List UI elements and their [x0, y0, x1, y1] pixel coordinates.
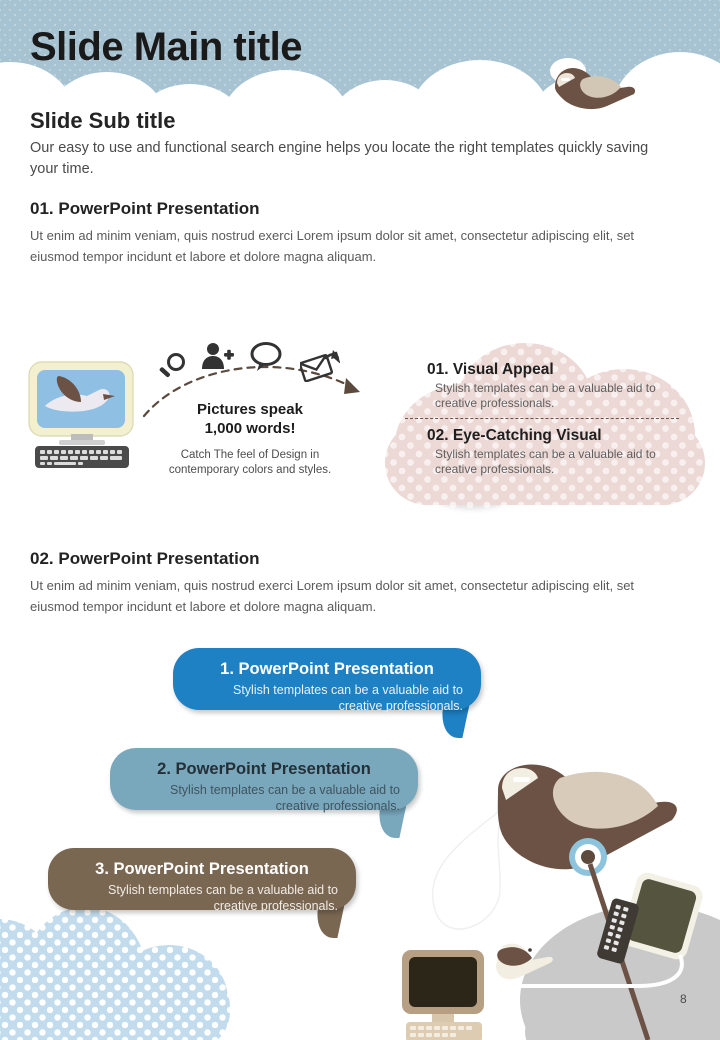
slide-sub-title: Slide Sub title	[30, 108, 175, 134]
cloud-item-2-title: 02. Eye-Catching Visual	[427, 427, 689, 445]
cloud-item-2-desc: Stylish templates can be a valuable aid …	[435, 447, 689, 477]
cloud-divider	[405, 418, 679, 419]
speech-bubble-icon	[250, 342, 282, 372]
bubble-3-title: 3. PowerPoint Presentation	[66, 860, 338, 879]
bottom-dot-cloud	[0, 905, 260, 1040]
section-1-title: 01. PowerPoint Presentation	[30, 199, 260, 219]
pictures-speak-headline: Pictures speak 1,000 words!	[165, 400, 335, 438]
bottom-illustration	[380, 750, 720, 1040]
bubble-2-title: 2. PowerPoint Presentation	[128, 760, 400, 779]
section-2-description: Ut enim ad minim veniam, quis nostrud ex…	[30, 575, 680, 617]
section-1-description: Ut enim ad minim veniam, quis nostrud ex…	[30, 225, 680, 267]
slide-canvas: Slide Main title Slide Sub title Our eas…	[0, 0, 720, 1040]
bubble-3[interactable]: 3. PowerPoint Presentation Stylish templ…	[48, 848, 356, 910]
bubble-1-title: 1. PowerPoint Presentation	[191, 660, 463, 679]
envelope-reply-icon	[300, 348, 340, 382]
slide-main-title: Slide Main title	[30, 25, 302, 70]
header-bird-icon	[541, 57, 646, 117]
bubble-2[interactable]: 2. PowerPoint Presentation Stylish templ…	[110, 748, 418, 810]
infographic-group: Pictures speak 1,000 words! Catch The fe…	[0, 320, 720, 520]
pink-cloud-content: 01. Visual Appeal Stylish templates can …	[427, 361, 689, 477]
section-2-title: 02. PowerPoint Presentation	[30, 549, 260, 569]
bubble-1-desc: Stylish templates can be a valuable aid …	[191, 682, 463, 714]
cloud-item-1-desc: Stylish templates can be a valuable aid …	[435, 381, 689, 411]
slide-sub-description: Our easy to use and functional search en…	[30, 138, 670, 180]
bubble-1[interactable]: 1. PowerPoint Presentation Stylish templ…	[173, 648, 481, 710]
bubble-3-desc: Stylish templates can be a valuable aid …	[66, 882, 338, 914]
desktop-computer-icon	[25, 360, 137, 470]
headline-line-2: 1,000 words!	[165, 419, 335, 438]
add-person-icon	[200, 342, 234, 372]
magnifier-icon	[158, 352, 186, 382]
cloud-item-1-title: 01. Visual Appeal	[427, 361, 689, 379]
infographic-caption: Catch The feel of Design in contemporary…	[150, 448, 350, 478]
pink-cloud-panel: 01. Visual Appeal Stylish templates can …	[385, 335, 715, 510]
bubble-2-desc: Stylish templates can be a valuable aid …	[128, 782, 400, 814]
page-number: 8	[680, 992, 687, 1006]
headline-line-1: Pictures speak	[165, 400, 335, 419]
